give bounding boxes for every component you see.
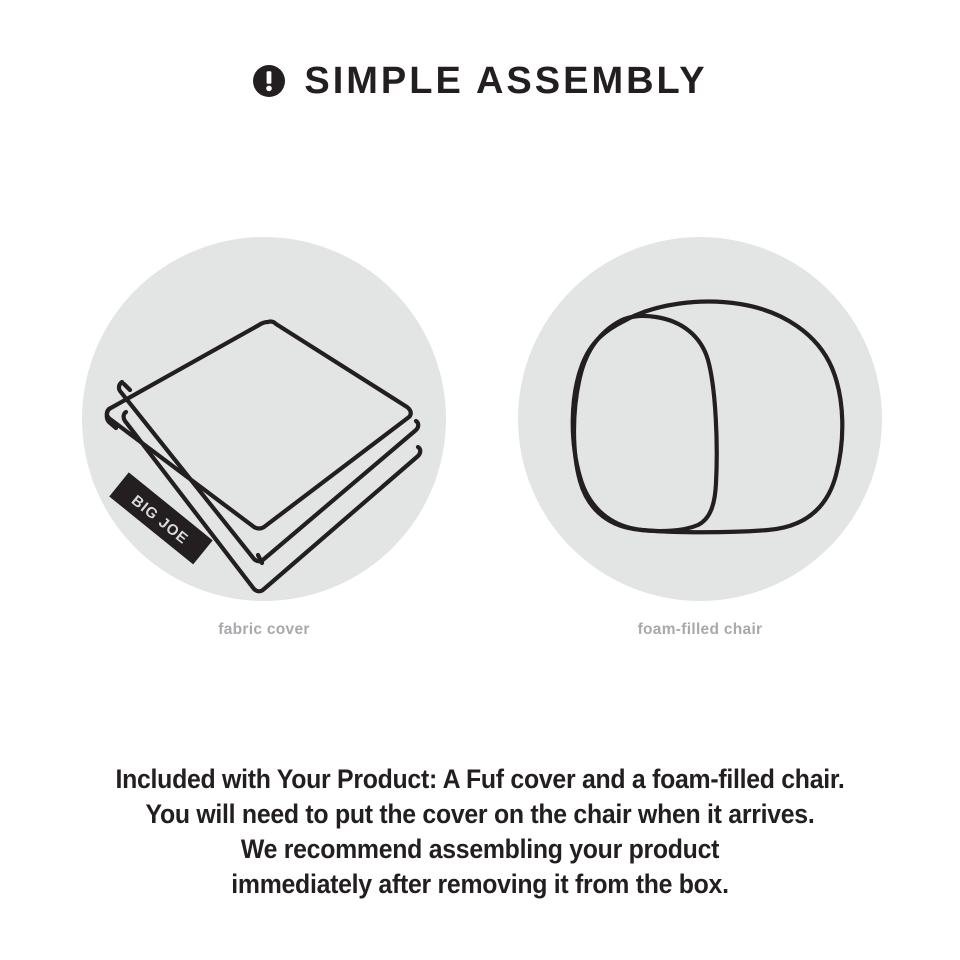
blurb-line-2: You will need to put the cover on the ch… — [38, 797, 921, 832]
blurb-line-3: We recommend assembling your product — [38, 832, 921, 867]
page-title: SIMPLE ASSEMBLY — [304, 62, 707, 100]
folded-fabric-cover-illustration: BIG JOE — [82, 237, 446, 601]
alert-exclamation-circle-icon — [252, 64, 286, 98]
blurb-line-4: immediately after removing it from the b… — [38, 867, 921, 902]
caption-foam-filled-chair: foam-filled chair — [518, 621, 882, 639]
product-inclusion-note: Included with Your Product: A Fuf cover … — [0, 762, 960, 902]
illustration-fabric-cover: BIG JOE fabric cover — [82, 237, 446, 657]
illustration-row: BIG JOE fabric cover foam-filled chair — [0, 237, 960, 657]
page-header: SIMPLE ASSEMBLY — [0, 62, 960, 100]
illustration-foam-filled-chair: foam-filled chair — [518, 237, 882, 657]
blurb-line-1: Included with Your Product: A Fuf cover … — [38, 762, 921, 797]
caption-fabric-cover: fabric cover — [82, 621, 446, 639]
foam-filled-chair-illustration — [518, 237, 882, 601]
